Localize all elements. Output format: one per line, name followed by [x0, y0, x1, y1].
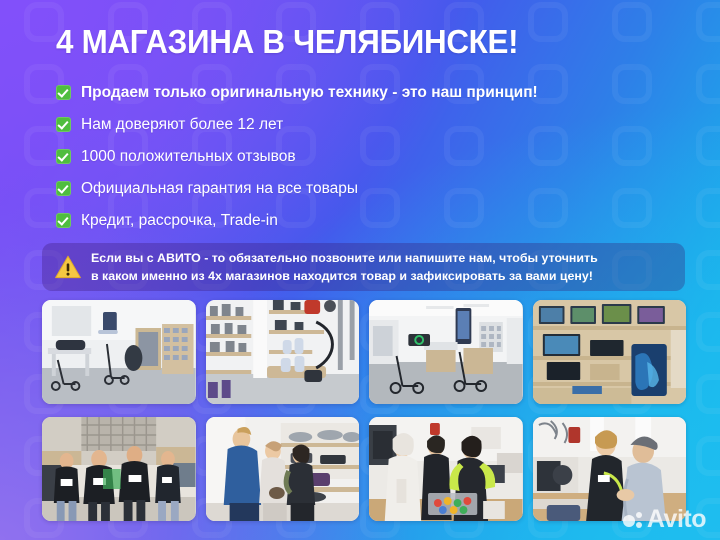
promo-banner: 4 МАГАЗИНА В ЧЕЛЯБИНСКЕ! Продаем только …: [0, 0, 720, 540]
store-photo: [533, 417, 687, 521]
check-icon: [56, 117, 71, 132]
list-item: Кредит, рассрочка, Trade-in: [56, 204, 676, 236]
pattern-square: [696, 312, 720, 352]
store-photo: [533, 300, 687, 404]
list-item: Официальная гарантия на все товары: [56, 172, 676, 204]
list-item: Продаем только оригинальную технику - эт…: [56, 76, 676, 108]
store-photo: [369, 417, 523, 521]
list-item: Нам доверяют более 12 лет: [56, 108, 676, 140]
feature-list: Продаем только оригинальную технику - эт…: [56, 76, 676, 236]
pattern-square: [696, 64, 720, 104]
store-photo: [369, 300, 523, 404]
warning-triangle-icon: [54, 254, 82, 280]
avito-notice-box: Если вы с АВИТО - то обязательно позвони…: [42, 243, 685, 291]
feature-label: Официальная гарантия на все товары: [81, 179, 358, 198]
check-icon: [56, 149, 71, 164]
pattern-square: [696, 2, 720, 42]
pattern-square: [696, 188, 720, 228]
notice-line-1: Если вы с АВИТО - то обязательно позвони…: [91, 251, 598, 265]
feature-label: Продаем только оригинальную технику - эт…: [81, 83, 538, 102]
pattern-square: [696, 498, 720, 538]
store-photo: [42, 417, 196, 521]
feature-label: Кредит, рассрочка, Trade-in: [81, 211, 278, 230]
check-icon: [56, 85, 71, 100]
check-icon: [56, 213, 71, 228]
page-title: 4 МАГАЗИНА В ЧЕЛЯБИНСКЕ!: [56, 22, 645, 62]
store-photo: [206, 300, 360, 404]
pattern-square: [696, 436, 720, 476]
notice-line-2: в каком именно из 4х магазинов находится…: [91, 269, 593, 283]
check-icon: [56, 181, 71, 196]
pattern-square: [696, 374, 720, 414]
feature-label: Нам доверяют более 12 лет: [81, 115, 283, 134]
pattern-square: [696, 250, 720, 290]
pattern-square: [696, 126, 720, 166]
store-photo-gallery: [42, 300, 686, 534]
gallery-row-2: [42, 417, 686, 521]
notice-text: Если вы с АВИТО - то обязательно позвони…: [91, 249, 598, 285]
list-item: 1000 положительных отзывов: [56, 140, 676, 172]
feature-label: 1000 положительных отзывов: [81, 147, 296, 166]
store-photo: [42, 300, 196, 404]
gallery-row-1: [42, 300, 686, 404]
store-photo: [206, 417, 360, 521]
